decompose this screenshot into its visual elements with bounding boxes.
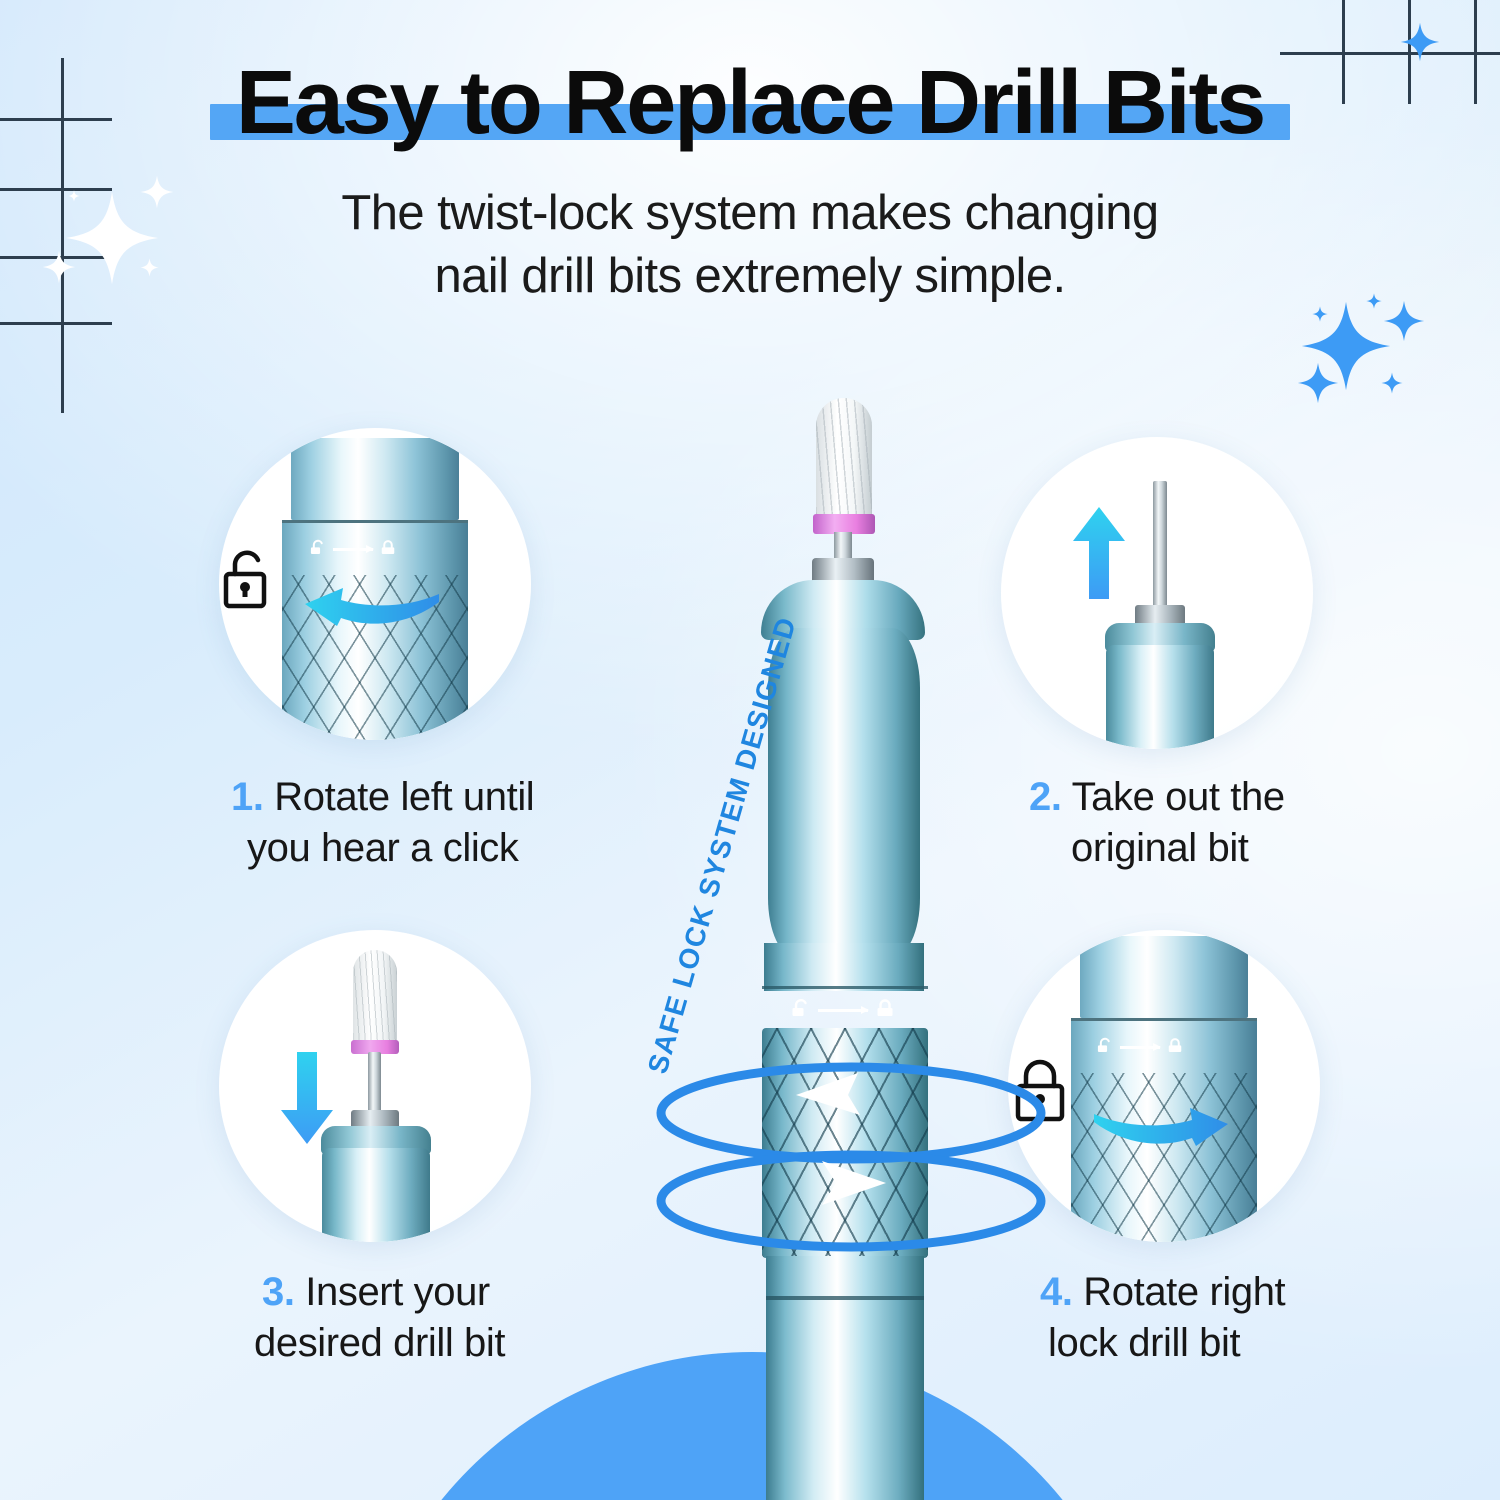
step-2-caption: 2. Take out the original bit (1029, 772, 1285, 874)
page-subtitle: The twist-lock system makes changing nai… (0, 182, 1500, 307)
sparkle-icon (1400, 22, 1440, 62)
arrow-up-icon (1073, 507, 1125, 599)
grid-line-horizontal (0, 322, 112, 325)
drill-body (1106, 645, 1214, 749)
lock-direction-indicator (308, 539, 398, 559)
drill-bit-shank (1153, 481, 1167, 613)
step-4-caption: 4. Rotate right lock drill bit (1040, 1267, 1285, 1369)
step-2-illustration (1001, 437, 1313, 749)
drill-upper-body (768, 628, 920, 958)
unlock-icon (1095, 1037, 1115, 1057)
step-1-caption: 1. Rotate left until you hear a click (231, 772, 534, 874)
unlock-icon (219, 546, 277, 619)
step-3-illustration (219, 930, 531, 1242)
bottom-blue-disc (352, 1352, 1152, 1500)
lock-icon (873, 998, 897, 1022)
step-3-line-2: desired drill bit (254, 1318, 505, 1369)
rotation-indicator-icon (626, 1053, 1076, 1263)
step-1-line-1: Rotate left until (274, 775, 534, 819)
curved-arrow-left-icon (303, 580, 443, 640)
lock-direction-indicator (1095, 1037, 1185, 1057)
step-2-line-2: original bit (1071, 823, 1249, 874)
infographic-canvas: Easy to Replace Drill Bits The twist-loc… (0, 0, 1500, 1500)
step-3-line-1: Insert your (305, 1270, 490, 1314)
drill-body (322, 1148, 430, 1242)
arrow-down-icon (281, 1052, 333, 1144)
step-3-caption: 3. Insert your desired drill bit (262, 1267, 505, 1369)
collar-seam (762, 986, 928, 989)
unlock-icon (308, 539, 328, 559)
ceramic-drill-bit (353, 950, 397, 1044)
unlock-icon (789, 998, 813, 1022)
step-1-line-2: you hear a click (247, 823, 519, 874)
drill-handle (766, 1300, 924, 1500)
grid-line-horizontal (1280, 52, 1500, 55)
ceramic-drill-bit (816, 398, 872, 520)
page-title: Easy to Replace Drill Bits (226, 58, 1274, 150)
curved-arrow-right-icon (1090, 1100, 1230, 1160)
lock-icon (1165, 1037, 1185, 1057)
step-4-line-2: lock drill bit (1048, 1318, 1240, 1369)
bit-color-band (813, 514, 875, 534)
lock-direction-indicator (789, 998, 897, 1022)
step-4-number: 4. (1040, 1270, 1073, 1314)
drill-collar-graphic (1071, 936, 1257, 1242)
step-2-line-1: Take out the (1072, 775, 1285, 819)
sparkle-icon (1381, 372, 1403, 394)
lock-icon (378, 539, 398, 559)
step-1-number: 1. (231, 775, 264, 819)
subtitle-line-2: nail drill bits extremely simple. (0, 245, 1500, 308)
header: Easy to Replace Drill Bits (0, 58, 1500, 150)
step-4-line-1: Rotate right (1083, 1270, 1285, 1314)
subtitle-line-1: The twist-lock system makes changing (0, 182, 1500, 245)
sparkle-icon (1312, 306, 1328, 322)
step-3-number: 3. (262, 1270, 295, 1314)
drill-bit-shank (368, 1052, 381, 1116)
drill-midsection (764, 943, 924, 991)
step-2-number: 2. (1029, 775, 1062, 819)
sparkle-icon (1297, 362, 1339, 404)
brand-vertical-text: SAFE LOCK SYSTEM DESIGNED (642, 665, 789, 1078)
